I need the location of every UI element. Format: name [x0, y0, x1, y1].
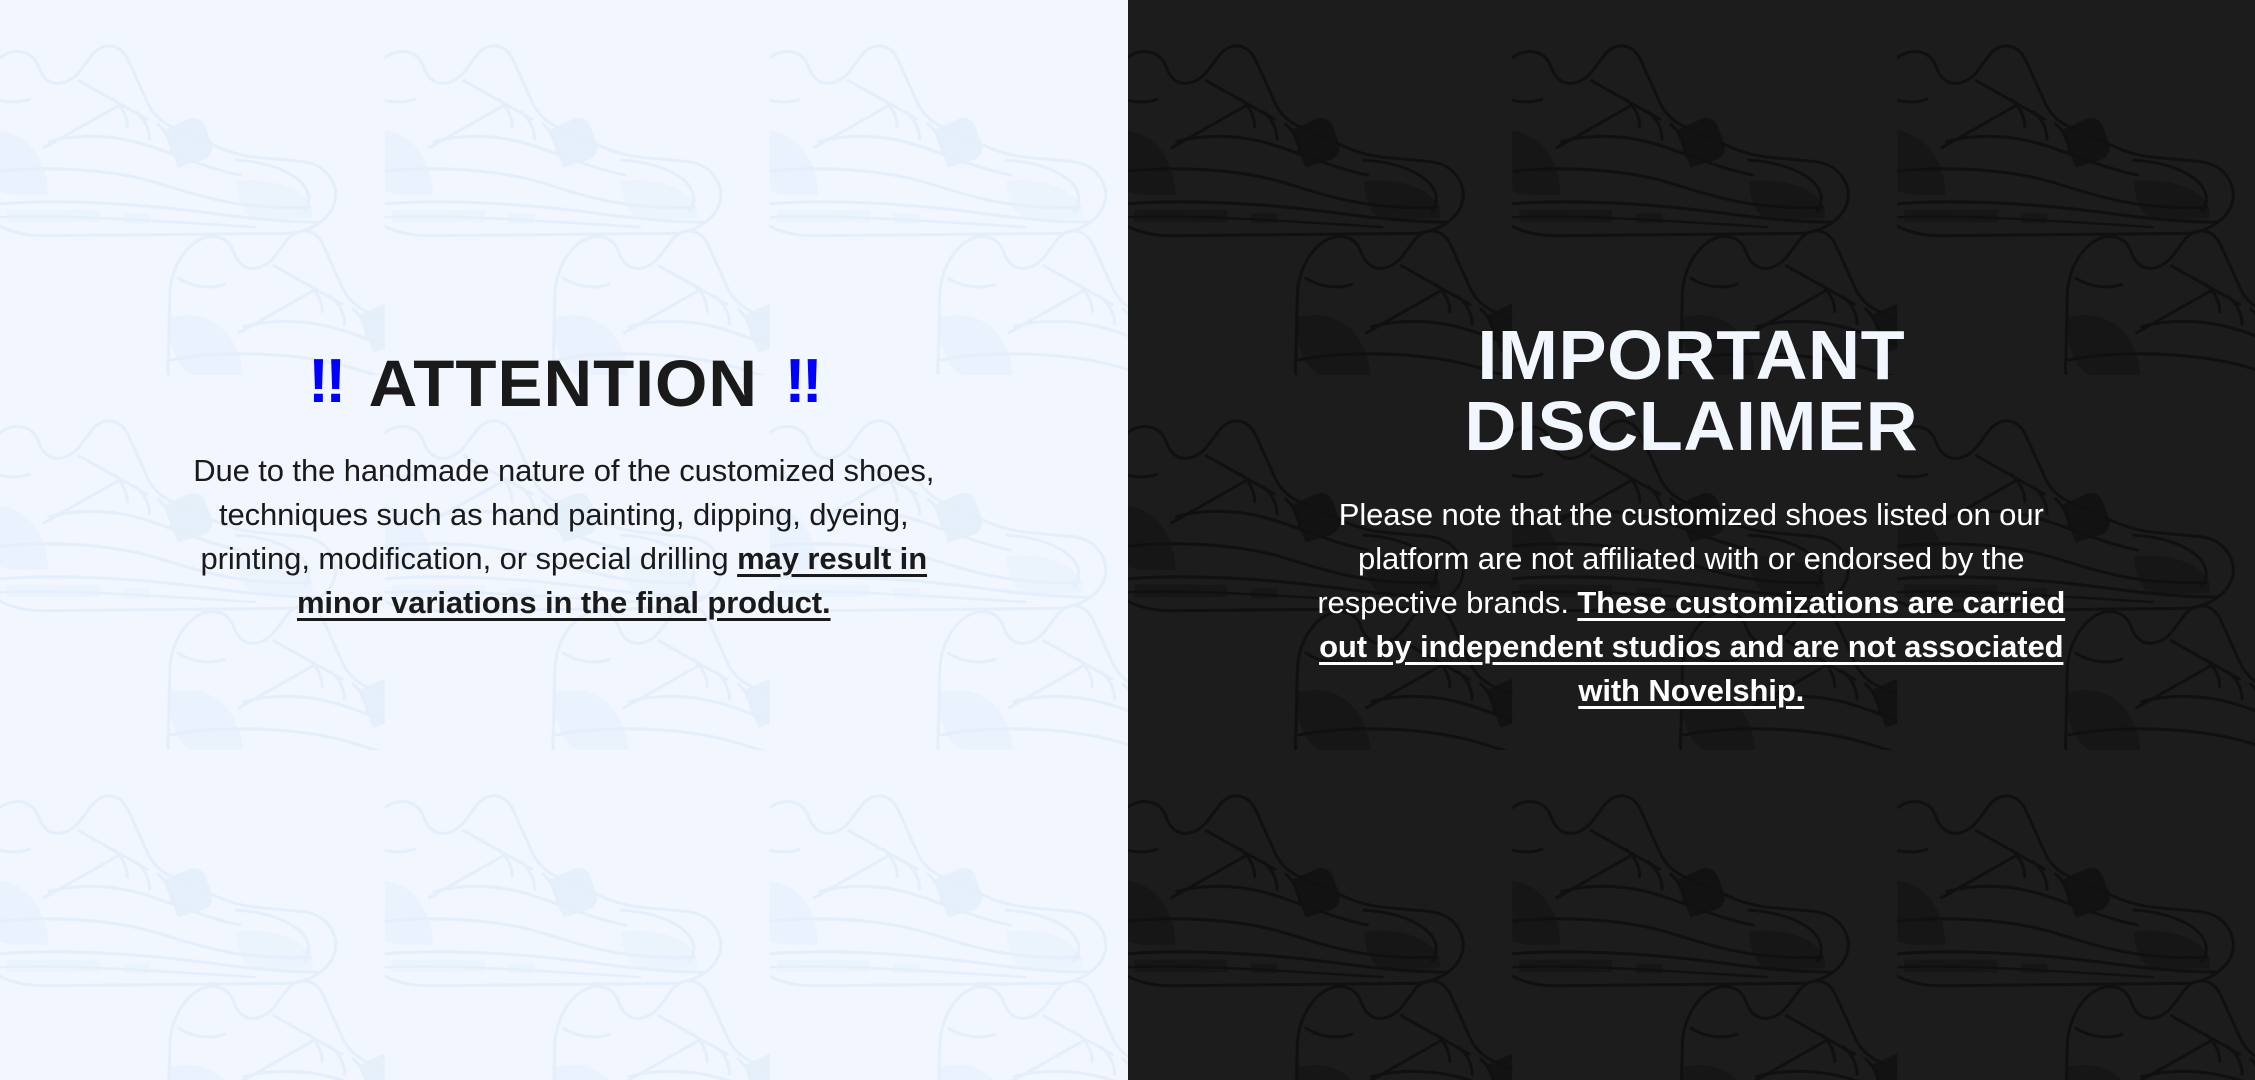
- double-exclamation-left-icon: ‼: [308, 351, 342, 413]
- disclaimer-content: IMPORTANT DISCLAIMER Please note that th…: [1128, 0, 2255, 713]
- attention-heading-text: ATTENTION: [369, 350, 758, 417]
- attention-content: ‼ ATTENTION ‼ Due to the handmade nature…: [0, 0, 1128, 625]
- attention-panel: ‼ ATTENTION ‼ Due to the handmade nature…: [0, 0, 1128, 1080]
- disclaimer-heading-line2: DISCLAIMER: [1464, 387, 1918, 465]
- double-exclamation-right-icon: ‼: [785, 351, 819, 413]
- disclaimer-panel: IMPORTANT DISCLAIMER Please note that th…: [1128, 0, 2255, 1080]
- disclaimer-banner: ‼ ATTENTION ‼ Due to the handmade nature…: [0, 0, 2255, 1080]
- disclaimer-body: Please note that the customized shoes li…: [1291, 493, 2091, 713]
- disclaimer-heading: IMPORTANT DISCLAIMER: [1464, 320, 1918, 463]
- disclaimer-heading-line1: IMPORTANT: [1477, 316, 1905, 394]
- attention-heading: ‼ ATTENTION ‼: [308, 350, 819, 417]
- attention-body: Due to the handmade nature of the custom…: [164, 449, 964, 625]
